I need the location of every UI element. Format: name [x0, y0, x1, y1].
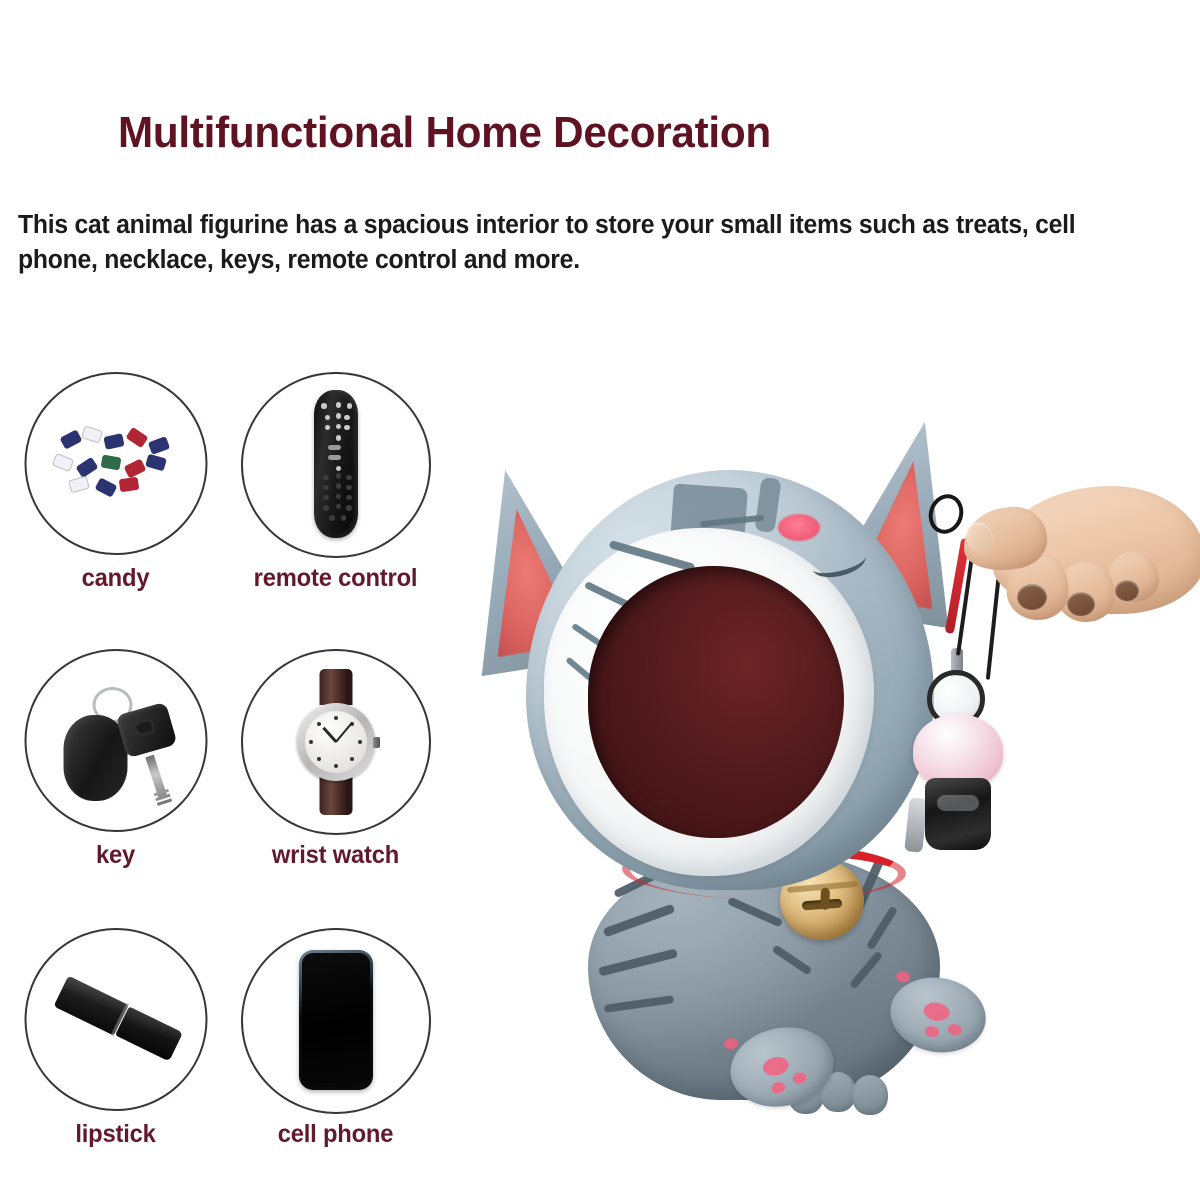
charm-pink-body	[913, 714, 1003, 788]
middle-nail	[1017, 584, 1047, 610]
item-wrist-watch: wrist watch	[228, 649, 443, 911]
candy-circle-frame	[24, 372, 207, 555]
tv-remote-icon	[243, 374, 429, 556]
human-hand-holding-keychain	[945, 480, 1200, 710]
item-key: key	[8, 649, 223, 911]
smartphone-icon	[243, 930, 429, 1112]
car-key-fob-icon	[26, 651, 205, 830]
item-remote-control: remote control	[228, 372, 443, 634]
bell-slit	[802, 899, 843, 911]
key-circle-frame	[24, 649, 207, 832]
page-title: Multifunctional Home Decoration	[118, 108, 1040, 158]
pinky-nail	[1115, 580, 1139, 601]
item-label-wrist-watch: wrist watch	[233, 841, 437, 870]
remote-control-circle-frame	[241, 372, 431, 558]
item-label-lipstick: lipstick	[13, 1120, 217, 1149]
item-label-key: key	[13, 841, 217, 870]
item-label-candy: candy	[13, 564, 217, 593]
item-candy: candy	[8, 372, 223, 634]
wrist-watch-circle-frame	[241, 649, 431, 835]
item-label-remote-control: remote control	[233, 564, 437, 593]
page-subtitle: This cat animal figurine has a spacious …	[18, 208, 1095, 278]
product-marketing-image: Multifunctional Home Decoration This cat…	[0, 0, 1200, 1200]
storable-items-grid: candy	[0, 372, 460, 1172]
cell-phone-circle-frame	[241, 928, 431, 1114]
ring-nail	[1067, 592, 1095, 616]
lipstick-tube-icon	[26, 930, 205, 1109]
candy-cluster-icon	[26, 374, 205, 553]
charm-dark-base	[925, 778, 991, 850]
cat-cheek-blush	[778, 514, 820, 541]
cat-open-mouth-storage-cavity	[588, 566, 844, 838]
item-cell-phone: cell phone	[228, 928, 443, 1190]
wristwatch-icon	[243, 651, 429, 833]
item-label-cell-phone: cell phone	[233, 1120, 437, 1149]
item-lipstick: lipstick	[8, 928, 223, 1190]
lipstick-circle-frame	[24, 928, 207, 1111]
